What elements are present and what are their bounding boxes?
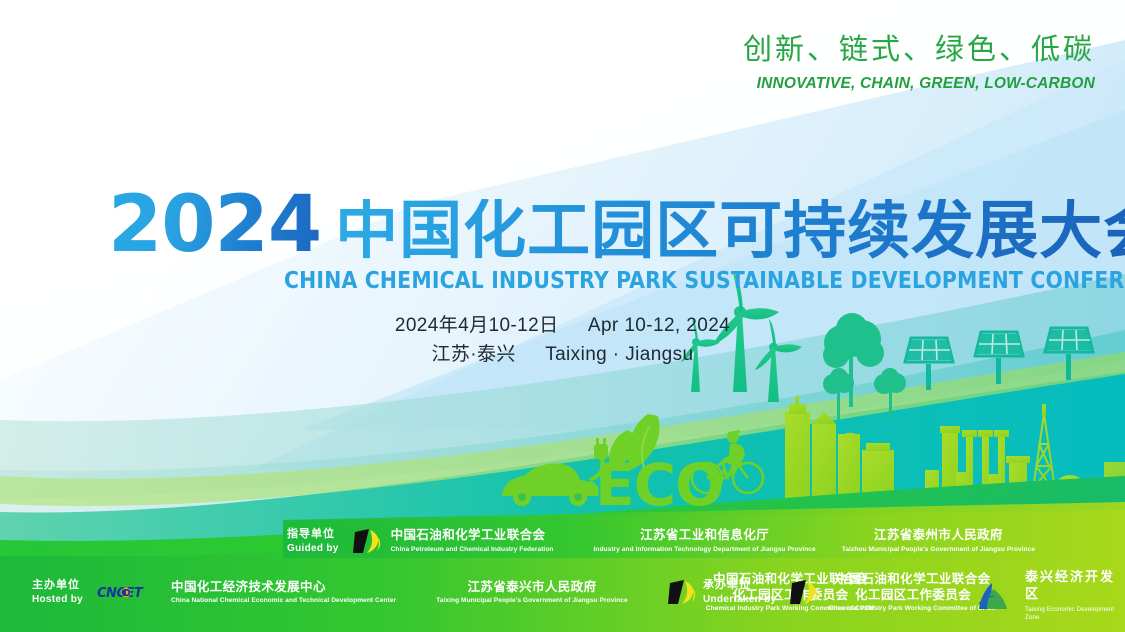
conference-title: 2024 中国化工园区可持续发展大会 CHINA CHEMICAL INDUST… (108, 191, 1125, 294)
sponsor-taixing-gov-text: 江苏省泰兴市人民政府 Taixing Municipal People's Go… (436, 580, 628, 605)
sponsor-taizhou-gov-en: Taizhou Municipal People's Government of… (842, 546, 1035, 554)
hosted-by-label-cn: 主办单位 (32, 578, 83, 593)
sponsor-cpcif: 中国石油和化学工业联合会 China Petroleum and Chemica… (353, 528, 554, 554)
cncet-logo-icon: CNCET (97, 585, 161, 600)
conference-banner: ECO (0, 0, 1125, 632)
guided-by-label-cn: 指导单位 (287, 527, 339, 542)
sponsor-cncet-cn: 中国化工经济技术发展中心 (171, 580, 396, 596)
svg-text:CNCET: CNCET (97, 586, 144, 600)
slogan: 创新、链式、绿色、低碳 INNOVATIVE, CHAIN, GREEN, LO… (743, 26, 1095, 93)
tedz-cn: 泰兴经济开发区 (1025, 570, 1125, 604)
sponsor-taixing-edz: 泰兴经济开发区 Taixing Economic Development Zon… (978, 570, 1125, 622)
sponsor-cncet-en: China National Chemical Economic and Tec… (171, 597, 396, 605)
event-date-english: Apr 10-12, 2024 (588, 315, 730, 336)
sponsor-jiangsu-miit-en: Industry and Information Technology Depa… (593, 546, 815, 554)
event-location-chinese: 江苏·泰兴 (431, 344, 515, 365)
undertaken-by-label: 承办单位 Undertaken by (703, 578, 776, 606)
sponsor-cncet-text: 中国化工经济技术发展中心 China National Chemical Eco… (171, 580, 396, 605)
tedz-logo-icon (978, 581, 1016, 611)
sponsor-cpcif-text: 中国石油和化学工业联合会 China Petroleum and Chemica… (391, 528, 554, 553)
sponsor-taixing-gov: 江苏省泰兴市人民政府 Taixing Municipal People's Go… (436, 580, 628, 605)
sponsor-cpcif-cipwc-2-en: Chemical Industry Park Working Committee… (828, 605, 997, 613)
guided-by-label: 指导单位 Guided by (287, 527, 339, 555)
sponsor-cpcif-cipwc-2-cn: 中国石油和化学工业联合会 (828, 572, 997, 588)
event-location: 江苏·泰兴 Taixing · Jiangsu (0, 340, 1125, 369)
event-date: 2024年4月10-12日 Apr 10-12, 2024 (0, 311, 1125, 340)
sponsor-row-undertaken: 承办单位 Undertaken by 中国石油和化学工业联合会 化工园区工作委员… (703, 572, 998, 613)
sponsor-taizhou-gov-cn: 江苏省泰州市人民政府 (842, 528, 1035, 544)
sponsor-row-guided: 指导单位 Guided by 中国石油和化学工业联合会 China Petrol… (287, 527, 1035, 555)
sponsor-cpcif-en: China Petroleum and Chemical Industry Fe… (391, 546, 554, 554)
cpcif-logo-icon (790, 579, 820, 605)
title-year: 2024 (108, 191, 335, 260)
title-chinese: 中国化工园区可持续发展大会 (335, 199, 1125, 262)
sponsor-cpcif-cipwc-2-text: 中国石油和化学工业联合会 化工园区工作委员会 Chemical Industry… (828, 572, 997, 613)
sponsor-taixing-gov-cn: 江苏省泰兴市人民政府 (436, 580, 628, 596)
sponsor-cpcif-cipwc-2: 中国石油和化学工业联合会 化工园区工作委员会 Chemical Industry… (790, 572, 997, 613)
sponsor-jiangsu-miit: 江苏省工业和信息化厅 Industry and Information Tech… (593, 528, 815, 553)
sponsor-taizhou-gov-text: 江苏省泰州市人民政府 Taizhou Municipal People's Go… (842, 528, 1035, 553)
event-date-chinese: 2024年4月10-12日 (395, 315, 559, 336)
sponsor-cpcif-cn: 中国石油和化学工业联合会 (391, 528, 554, 544)
sponsor-jiangsu-miit-text: 江苏省工业和信息化厅 Industry and Information Tech… (593, 528, 815, 553)
undertaken-by-label-cn: 承办单位 (703, 578, 776, 593)
cpcif-logo-icon (353, 528, 383, 554)
sponsor-taixing-gov-en: Taixing Municipal People's Government of… (436, 597, 628, 605)
guided-by-label-en: Guided by (287, 542, 339, 556)
sponsor-taizhou-gov: 江苏省泰州市人民政府 Taizhou Municipal People's Go… (842, 528, 1035, 553)
sponsor-cpcif-cipwc-2-cn2: 化工园区工作委员会 (828, 588, 997, 604)
slogan-chinese: 创新、链式、绿色、低碳 (743, 26, 1095, 68)
undertaken-by-label-en: Undertaken by (703, 593, 776, 607)
sponsor-cncet: CNCET 中国化工经济技术发展中心 China National Chemic… (97, 580, 396, 605)
slogan-english: INNOVATIVE, CHAIN, GREEN, LOW-CARBON (743, 75, 1095, 93)
cpcif-logo-icon (668, 579, 698, 605)
event-details: 2024年4月10-12日 Apr 10-12, 2024 江苏·泰兴 Taix… (0, 311, 1125, 370)
hosted-by-label: 主办单位 Hosted by (32, 578, 83, 606)
hosted-by-label-en: Hosted by (32, 593, 83, 607)
sponsor-jiangsu-miit-cn: 江苏省工业和信息化厅 (593, 528, 815, 544)
svg-text:ECO: ECO (595, 451, 724, 519)
title-english: CHINA CHEMICAL INDUSTRY PARK SUSTAINABLE… (284, 266, 1125, 294)
event-location-english: Taixing · Jiangsu (545, 344, 693, 365)
tedz-en: Taixing Economic Development Zone (1025, 606, 1125, 622)
tedz-text: 泰兴经济开发区 Taixing Economic Development Zon… (1025, 570, 1125, 622)
